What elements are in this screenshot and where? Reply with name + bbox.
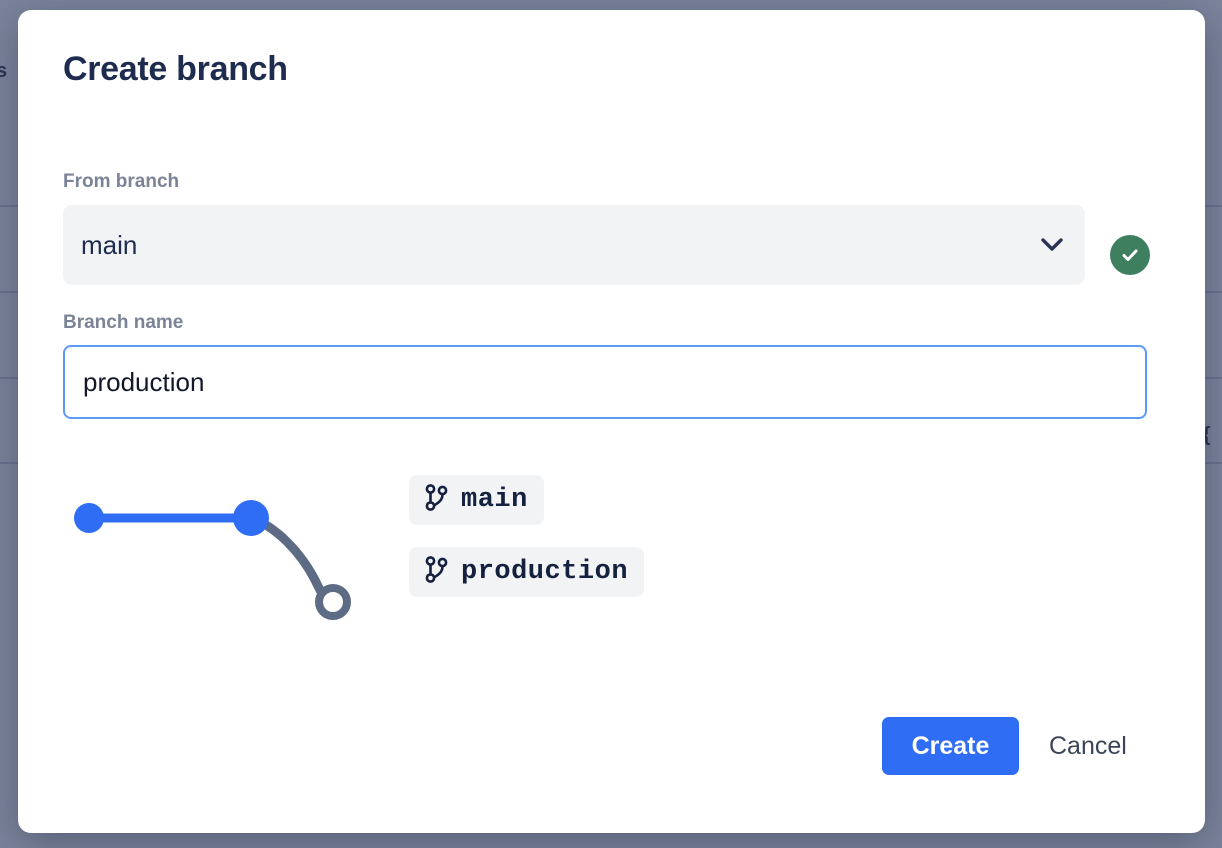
backdrop-text-fragment: s [0, 60, 7, 83]
from-branch-value: main [81, 230, 1041, 261]
branch-name-input[interactable] [63, 345, 1147, 419]
dialog-title: Create branch [63, 50, 288, 89]
git-branch-icon [425, 484, 448, 516]
branch-chip-production: production [409, 547, 644, 597]
branch-chip-label: production [461, 557, 628, 587]
git-branch-icon [425, 556, 448, 588]
branch-chip-list: main production [409, 475, 644, 619]
branch-name-label: Branch name [63, 312, 183, 334]
from-branch-select[interactable]: main [63, 205, 1085, 285]
create-button[interactable]: Create [882, 717, 1019, 775]
cancel-button[interactable]: Cancel [1049, 717, 1127, 775]
branch-chip-label: main [461, 485, 528, 515]
check-circle-icon [1110, 235, 1150, 275]
create-branch-dialog: Create branch From branch main Branch na… [18, 10, 1205, 833]
branch-chip-main: main [409, 475, 544, 525]
chevron-down-icon[interactable] [1041, 238, 1063, 252]
from-branch-label: From branch [63, 171, 179, 193]
branch-graph [63, 475, 393, 635]
